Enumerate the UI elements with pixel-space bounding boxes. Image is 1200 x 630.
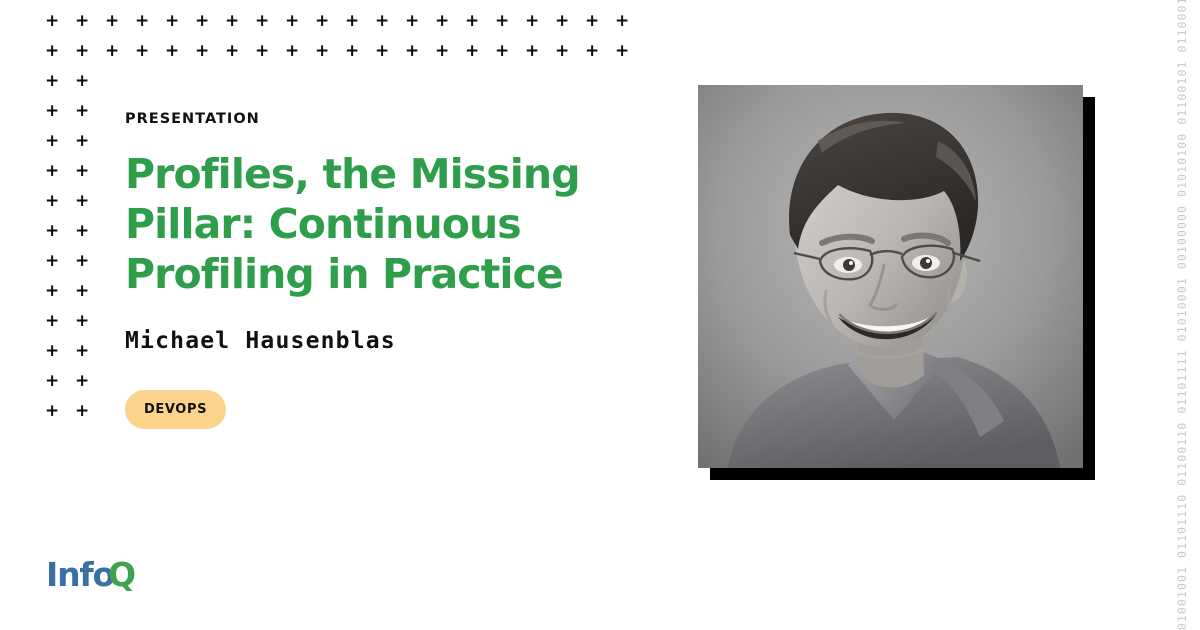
plus-decoration-mark: + [75,404,89,418]
plus-decoration-mark: + [435,14,449,28]
plus-decoration-mark: + [75,74,89,88]
plus-decoration-mark: + [255,14,269,28]
plus-decoration-mark: + [135,44,149,58]
plus-decoration-mark: + [135,14,149,28]
speaker-name: Michael Hausenblas [125,329,685,354]
binary-code-text: 01001001 01101110 01100110 01101111 0101… [1175,0,1189,630]
plus-decoration-mark: + [315,44,329,58]
plus-decoration-mark: + [45,284,59,298]
plus-decoration-mark: + [45,74,59,88]
plus-decoration-mark: + [75,194,89,208]
plus-decoration-mark: + [45,104,59,118]
plus-decoration-mark: + [195,44,209,58]
plus-decoration-mark: + [225,14,239,28]
binary-code-strip: 01001001 01101110 01100110 01101111 0101… [1164,0,1200,630]
plus-decoration-mark: + [345,14,359,28]
plus-decoration-mark: + [75,374,89,388]
plus-decoration-mark: + [165,14,179,28]
plus-decoration-mark: + [495,44,509,58]
plus-decoration-mark: + [75,254,89,268]
plus-decoration-mark: + [525,14,539,28]
plus-decoration-mark: + [75,134,89,148]
plus-decoration-mark: + [45,404,59,418]
content-type-label: PRESENTATION [125,112,685,127]
plus-decoration-mark: + [45,14,59,28]
plus-decoration-mark: + [225,44,239,58]
plus-decoration-mark: + [45,44,59,58]
plus-decoration-mark: + [75,104,89,118]
plus-decoration-mark: + [75,344,89,358]
plus-decoration-mark: + [585,44,599,58]
plus-decoration-mark: + [45,164,59,178]
infoq-logo[interactable]: Info Q [46,556,164,596]
plus-decoration-mark: + [75,14,89,28]
plus-decoration-mark: + [525,44,539,58]
plus-decoration-mark: + [345,44,359,58]
speaker-portrait [698,85,1083,468]
speaker-photo-container [698,85,1083,468]
plus-decoration-mark: + [435,44,449,58]
plus-decoration-mark: + [615,44,629,58]
content-column: PRESENTATION Profiles, the Missing Pilla… [125,112,685,429]
plus-decoration-mark: + [75,314,89,328]
plus-decoration-mark: + [585,14,599,28]
plus-decoration-mark: + [75,224,89,238]
plus-decoration-mark: + [45,254,59,268]
plus-decoration-mark: + [195,14,209,28]
plus-decoration-mark: + [105,14,119,28]
plus-decoration-mark: + [405,14,419,28]
plus-decoration-mark: + [555,14,569,28]
plus-decoration-mark: + [45,134,59,148]
plus-decoration-mark: + [555,44,569,58]
plus-decoration-mark: + [45,344,59,358]
logo-text-q: Q [108,556,135,594]
plus-decoration-mark: + [45,224,59,238]
plus-decoration-mark: + [495,14,509,28]
plus-decoration-mark: + [75,44,89,58]
plus-decoration-mark: + [615,14,629,28]
plus-decoration-mark: + [285,14,299,28]
plus-decoration-mark: + [75,164,89,178]
plus-decoration-mark: + [315,14,329,28]
plus-decoration-mark: + [375,44,389,58]
plus-decoration-mark: + [465,44,479,58]
page-title: Profiles, the Missing Pillar: Continuous… [125,149,675,299]
plus-decoration-mark: + [375,14,389,28]
plus-decoration-mark: + [45,314,59,328]
plus-decoration-mark: + [75,284,89,298]
plus-decoration-mark: + [285,44,299,58]
plus-decoration-mark: + [105,44,119,58]
topic-tag-devops[interactable]: DevOps [125,390,226,429]
plus-decoration-mark: + [45,374,59,388]
plus-decoration-mark: + [45,194,59,208]
plus-decoration-mark: + [165,44,179,58]
plus-decoration-mark: + [255,44,269,58]
logo-text-info: Info [46,556,115,594]
plus-decoration-mark: + [405,44,419,58]
plus-decoration-mark: + [465,14,479,28]
presentation-card: ++++++++++++++++++++++++++++++++++++++++… [0,0,1200,630]
tag-list: DevOps [125,390,685,429]
